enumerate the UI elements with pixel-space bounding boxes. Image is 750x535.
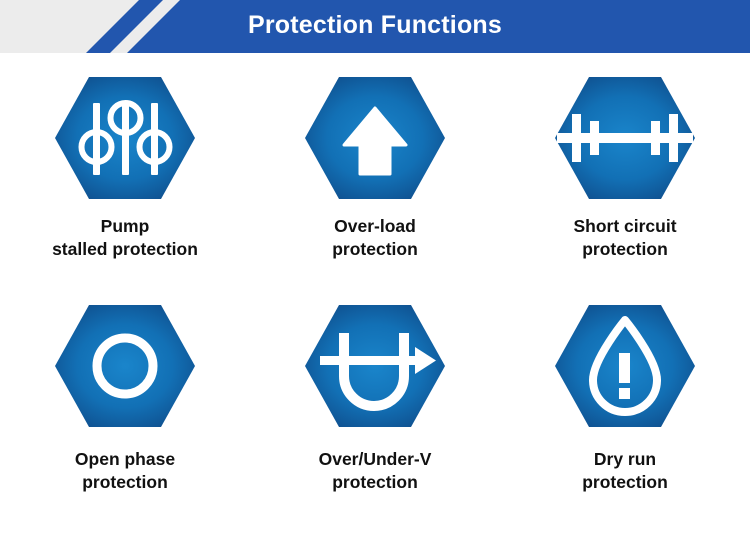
hex-badge [53, 303, 197, 429]
water-drop-warning-icon [553, 303, 697, 429]
arrow-up-icon [303, 75, 447, 201]
icon-row-1: Pump stalled protection [0, 75, 750, 261]
protection-item-label: Dry run protection [582, 448, 668, 494]
voltage-u-arrow-icon [303, 303, 447, 429]
protection-functions-page: Protection Functions [0, 0, 750, 535]
icon-row-2: Open phase protection [0, 303, 750, 494]
protection-item-label: Short circuit protection [573, 215, 676, 261]
protection-item-label: Over/Under-V protection [319, 448, 432, 494]
protection-item-label: Over-load protection [332, 215, 418, 261]
protection-item-pump-stalled[interactable]: Pump stalled protection [0, 75, 250, 261]
protection-item-short-circuit[interactable]: Short circuit protection [500, 75, 750, 261]
hex-badge [303, 303, 447, 429]
hex-badge [53, 75, 197, 201]
protection-item-over-under-voltage[interactable]: Over/Under-V protection [250, 303, 500, 494]
protection-item-dry-run[interactable]: Dry run protection [500, 303, 750, 494]
hex-badge [303, 75, 447, 201]
sliders-icon [53, 75, 197, 201]
hex-badge [553, 75, 697, 201]
circle-ring-icon [53, 303, 197, 429]
protection-item-label: Open phase protection [75, 448, 175, 494]
fuse-bars-icon [553, 75, 697, 201]
protection-item-label: Pump stalled protection [52, 215, 198, 261]
hex-badge [553, 303, 697, 429]
protection-icon-grid: Pump stalled protection [0, 53, 750, 535]
page-title: Protection Functions [0, 0, 750, 53]
protection-item-open-phase[interactable]: Open phase protection [0, 303, 250, 494]
page-header: Protection Functions [0, 0, 750, 53]
protection-item-over-load[interactable]: Over-load protection [250, 75, 500, 261]
